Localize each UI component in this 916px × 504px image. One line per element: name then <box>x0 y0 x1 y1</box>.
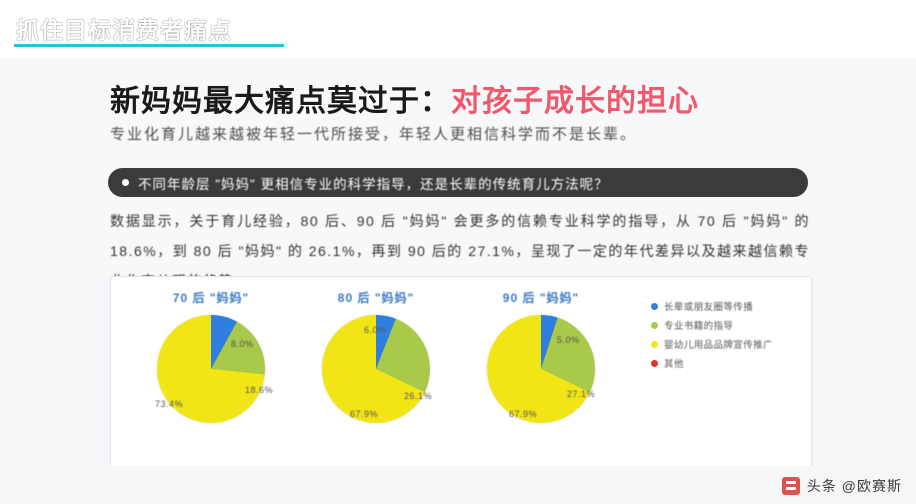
watermark: 头条 @欧赛斯 <box>782 476 902 496</box>
pie-title-80s: 80 后 "妈妈" <box>306 289 446 306</box>
headline-accent: 对孩子成长的担心 <box>451 85 699 118</box>
legend-swatch-icon-3 <box>651 360 658 367</box>
legend-swatch-icon-0 <box>651 303 658 310</box>
pie-label-90s-1: 27.1% <box>567 389 595 399</box>
slide-page: 抓住目标消费者痛点 新妈妈最大痛点莫过于：对孩子成长的担心 专业化育儿越来越被年… <box>0 0 916 504</box>
bottom-strip <box>0 466 916 504</box>
headline: 新妈妈最大痛点莫过于：对孩子成长的担心 <box>110 76 699 120</box>
insight-bar: 不同年龄层 "妈妈" 更相信专业的科学指导，还是长辈的传统育儿方法呢？ <box>108 168 808 197</box>
insight-bar-text: 不同年龄层 "妈妈" 更相信专业的科学指导，还是长辈的传统育儿方法呢？ <box>138 173 609 193</box>
pie-label-90s-0: 5.0% <box>557 335 580 345</box>
pie-label-80s-0: 6.0% <box>364 325 387 335</box>
headline-prefix: 新妈妈最大痛点莫过于： <box>110 85 451 118</box>
toutiao-logo-icon <box>782 477 800 495</box>
pie-title-70s: 70 后 "妈妈" <box>141 289 281 306</box>
pie-label-80s-2: 67.9% <box>350 409 378 419</box>
legend-item-3: 其他 <box>651 356 801 375</box>
pie-title-90s: 90 后 "妈妈" <box>471 289 611 306</box>
slide-body: 新妈妈最大痛点莫过于：对孩子成长的担心 专业化育儿越来越被年轻一代所接受，年轻人… <box>0 58 916 504</box>
pie-label-70s-2: 73.4% <box>155 399 183 409</box>
page-title: 抓住目标消费者痛点 <box>16 11 232 45</box>
legend-item-2: 婴幼儿用品品牌宣传推广 <box>651 337 801 356</box>
top-bar: 抓住目标消费者痛点 <box>0 0 916 58</box>
watermark-text: 头条 @欧赛斯 <box>807 476 902 496</box>
pie-label-70s-0: 8.0% <box>231 339 254 349</box>
legend-swatch-icon-1 <box>651 322 658 329</box>
pie-label-70s-1: 18.6% <box>245 385 273 395</box>
chart-card: 70 后 "妈妈" 8.0% 18.6% 73.4% 80 后 "妈妈" 6.0… <box>110 276 812 474</box>
legend-label-1: 专业书籍的指导 <box>664 318 733 332</box>
subheadline: 专业化育儿越来越被年轻一代所接受，年轻人更相信科学而不是长辈。 <box>110 123 637 144</box>
legend-item-0: 长辈或朋友圈等传播 <box>651 299 801 318</box>
title-underline <box>14 44 284 47</box>
legend-item-1: 专业书籍的指导 <box>651 318 801 337</box>
pie-chart-90s <box>487 315 595 423</box>
bullet-dot-icon <box>122 179 129 186</box>
legend-label-0: 长辈或朋友圈等传播 <box>664 299 753 313</box>
legend-label-2: 婴幼儿用品品牌宣传推广 <box>664 337 773 351</box>
pie-label-90s-2: 67.9% <box>509 409 537 419</box>
pie-label-80s-1: 26.1% <box>404 391 432 401</box>
legend-swatch-icon-2 <box>651 341 658 348</box>
legend-label-3: 其他 <box>664 356 684 370</box>
chart-legend: 长辈或朋友圈等传播 专业书籍的指导 婴幼儿用品品牌宣传推广 其他 <box>651 299 801 375</box>
